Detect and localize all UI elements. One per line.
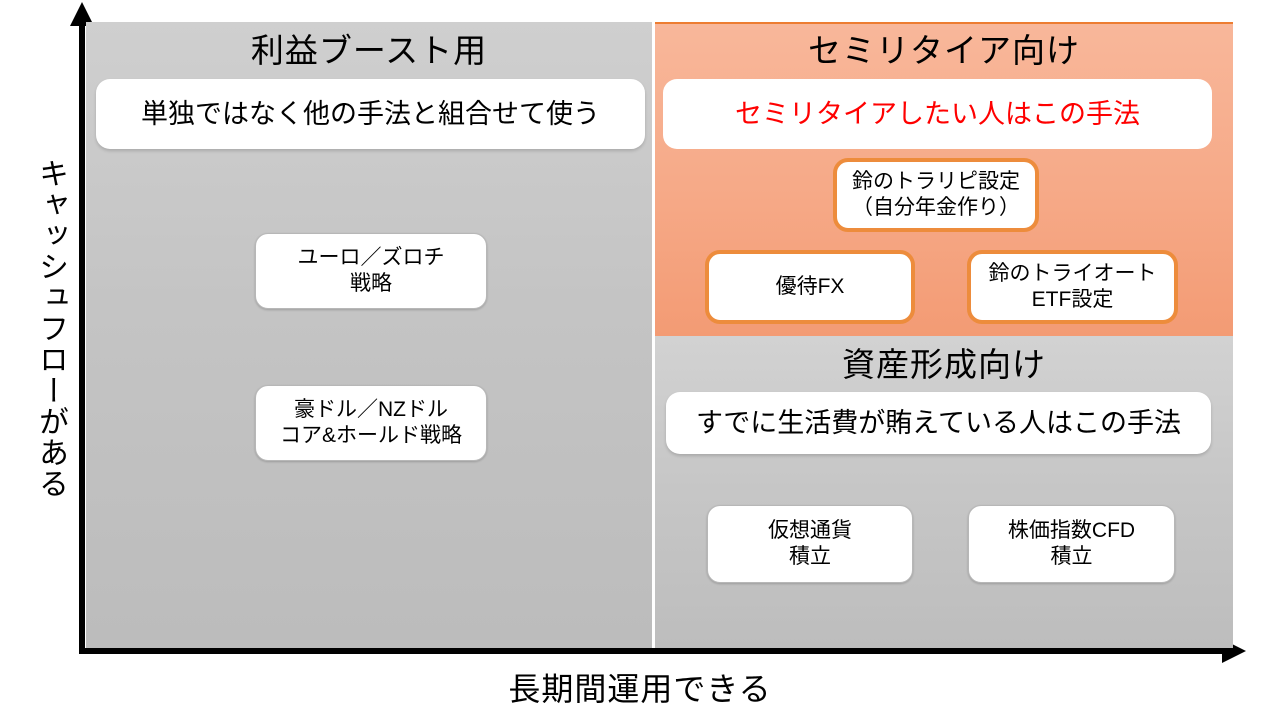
- banner-profit-boost: 単独ではなく他の手法と組合せて使う: [96, 79, 645, 149]
- card-aud-nzd[interactable]: 豪ドル／NZドル コア&ホールド戦略: [255, 385, 487, 461]
- quadrant-heading-asset-building: 資産形成向け: [655, 338, 1233, 386]
- banner-profit-boost-text: 単独ではなく他の手法と組合せて使う: [141, 97, 600, 131]
- card-cfd-tsumitate[interactable]: 株価指数CFD 積立: [968, 505, 1175, 583]
- card-yutai-fx-text: 優待FX: [776, 274, 845, 300]
- banner-asset-building: すでに生活費が賄えている人はこの手法: [666, 392, 1211, 454]
- x-axis-label: 長期間運用できる: [0, 664, 1280, 710]
- card-euro-zloty[interactable]: ユーロ／ズロチ 戦略: [255, 233, 487, 309]
- strategy-matrix-diagram: キャッシュフローがある 長期間運用できる 利益ブースト用 セミリタイア向け 資産…: [0, 0, 1280, 720]
- card-torarip-setting-text: 鈴のトラリピ設定 （自分年金作り）: [852, 169, 1020, 222]
- y-axis-label: キャッシュフローがある: [8, 158, 66, 499]
- card-triauto-etf[interactable]: 鈴のトライオート ETF設定: [967, 250, 1178, 324]
- card-torarip-setting[interactable]: 鈴のトラリピ設定 （自分年金作り）: [833, 158, 1039, 232]
- banner-asset-building-text: すでに生活費が賄えている人はこの手法: [696, 406, 1181, 440]
- card-yutai-fx[interactable]: 優待FX: [705, 250, 915, 324]
- card-triauto-etf-text: 鈴のトライオート ETF設定: [989, 261, 1157, 314]
- card-crypto-tsumitate[interactable]: 仮想通貨 積立: [707, 505, 913, 583]
- card-euro-zloty-text: ユーロ／ズロチ 戦略: [298, 245, 445, 298]
- card-crypto-tsumitate-text: 仮想通貨 積立: [768, 518, 852, 571]
- quadrant-heading-semi-retire: セミリタイア向け: [655, 24, 1233, 72]
- banner-semi-retire: セミリタイアしたい人はこの手法: [663, 79, 1212, 149]
- card-cfd-tsumitate-text: 株価指数CFD 積立: [1008, 518, 1135, 571]
- y-axis-line: [79, 24, 85, 654]
- quadrant-heading-profit-boost: 利益ブースト用: [86, 24, 652, 72]
- x-axis-line: [79, 648, 1239, 654]
- card-aud-nzd-text: 豪ドル／NZドル コア&ホールド戦略: [280, 397, 462, 450]
- banner-semi-retire-text: セミリタイアしたい人はこの手法: [735, 97, 1140, 131]
